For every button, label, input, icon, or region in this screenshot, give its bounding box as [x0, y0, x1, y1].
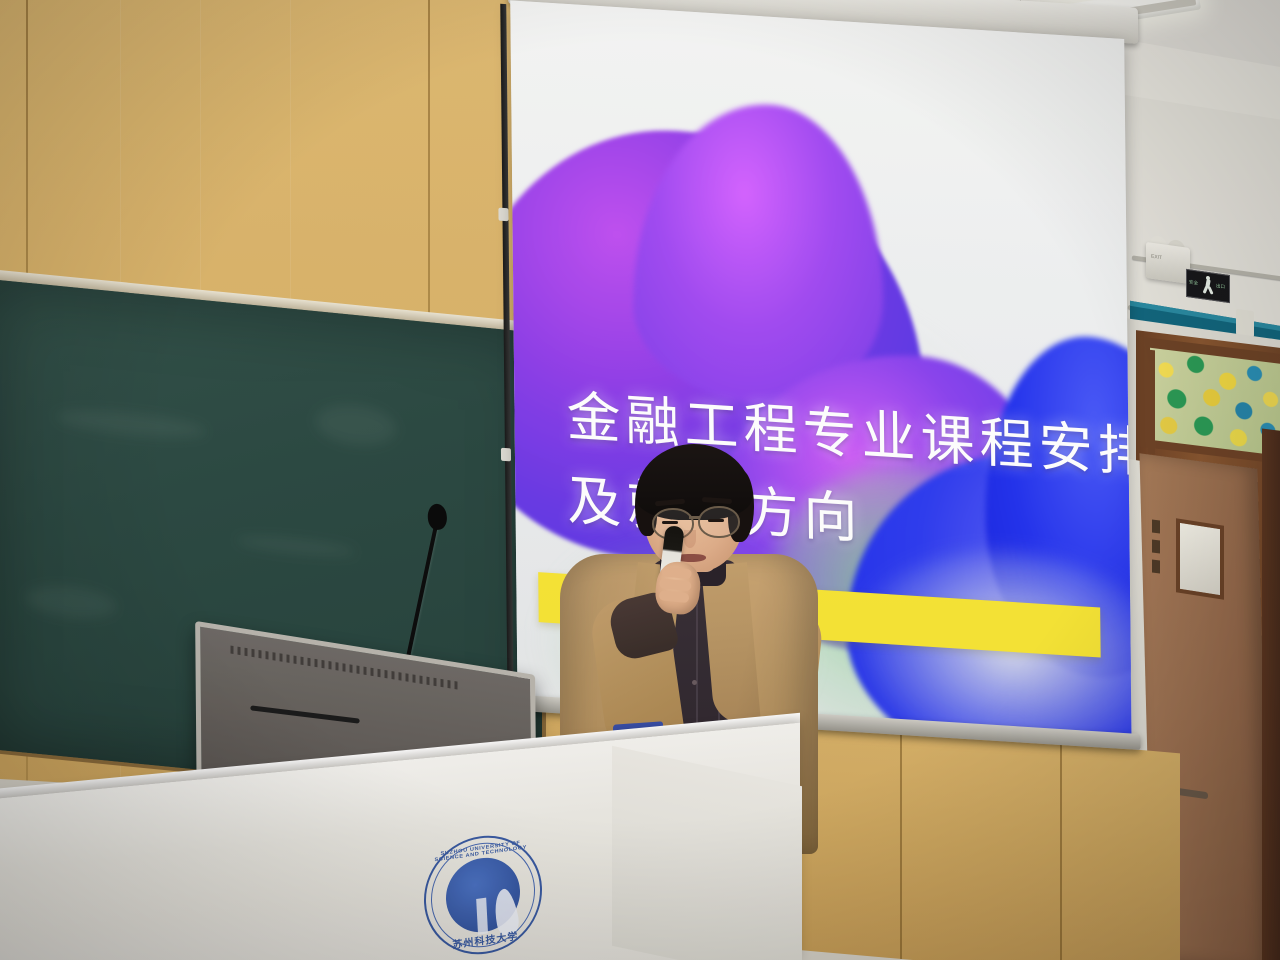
- door-hinge-icon: [1152, 519, 1160, 533]
- presenter-eye: [662, 521, 678, 524]
- exit-sign-text-left: 安全: [1189, 279, 1198, 286]
- presenter-eye: [708, 519, 724, 522]
- exit-sign-text-right: 出口: [1216, 283, 1225, 290]
- emergency-light-label: EXIT: [1151, 254, 1162, 262]
- door-vision-panel: [1176, 518, 1224, 600]
- door-hinge-icon: [1152, 539, 1160, 553]
- door-frame-shadow: [1262, 429, 1280, 960]
- decorative-mosaic-glass: [1150, 348, 1280, 456]
- transom-mullion: [1148, 350, 1155, 455]
- glasses-lens-icon: [698, 506, 740, 538]
- presenter-hair: [636, 444, 752, 520]
- running-man-icon: [1203, 276, 1214, 296]
- emergency-light-fixture: EXIT: [1146, 242, 1190, 284]
- lecture-hall-photo: EXIT 安全 出口: [0, 0, 1280, 960]
- door-hinge-icon: [1152, 559, 1160, 573]
- exit-sign: 安全 出口: [1186, 269, 1230, 303]
- presenter-nose: [684, 530, 696, 548]
- wall-bracket: [1236, 309, 1254, 338]
- glasses-bridge-icon: [689, 516, 700, 519]
